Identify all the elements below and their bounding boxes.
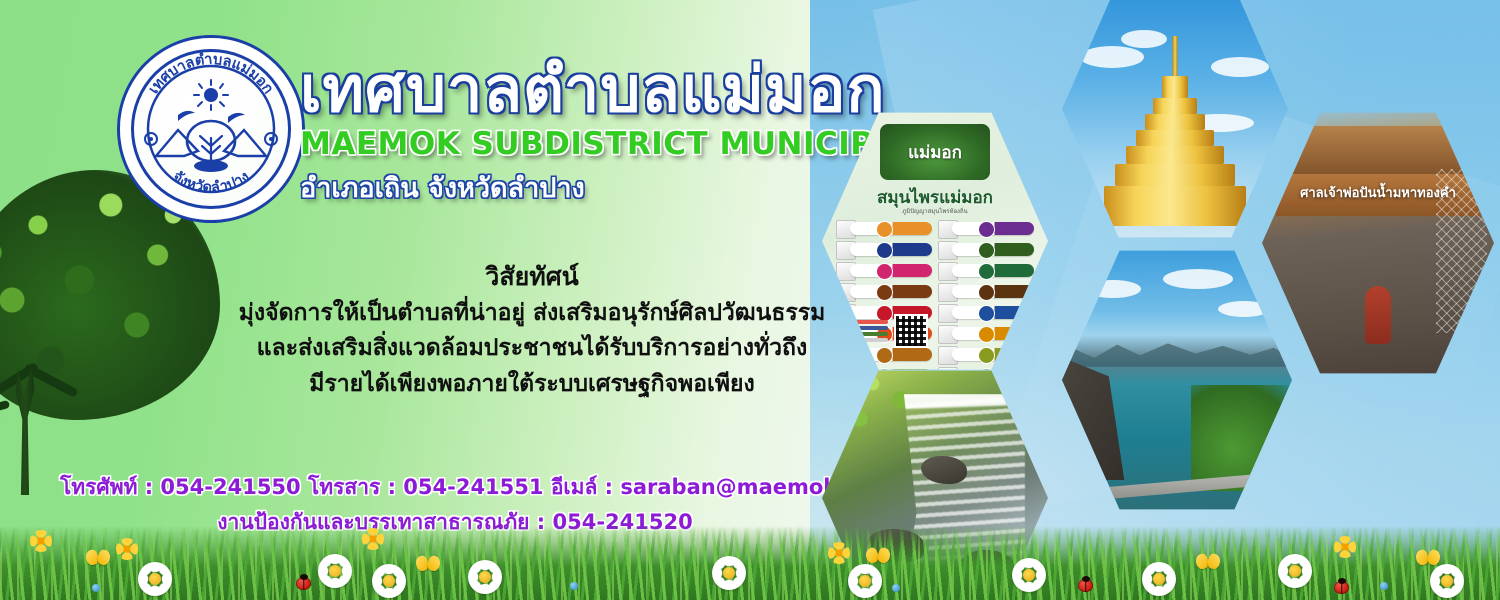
tree-branch bbox=[0, 400, 10, 420]
cloud bbox=[1163, 269, 1233, 289]
herbal-brand-logo: แม่มอก bbox=[880, 124, 990, 180]
white-daisy bbox=[318, 554, 352, 588]
page-title-thai: เทศบาลตำบลแม่มอก bbox=[300, 58, 1000, 121]
herbal-product-item bbox=[836, 262, 932, 279]
product-dot-icon bbox=[978, 326, 995, 343]
mountain-range bbox=[1062, 335, 1292, 367]
white-daisy bbox=[138, 562, 172, 596]
herbal-poster-subtitle: ภูมิปัญญาสมุนไพรท้องถิ่น bbox=[822, 206, 1048, 216]
pagoda-tier bbox=[1126, 146, 1224, 164]
shrine-guardian-statue bbox=[1365, 286, 1391, 344]
ladybug bbox=[296, 577, 311, 590]
blue-bud bbox=[892, 584, 900, 592]
herbal-product-item bbox=[938, 262, 1034, 279]
herbal-product-item bbox=[836, 220, 932, 237]
municipality-banner: เทศบาลตำบลแม่มอก จังหวัดลำปาง เทศบาลตำบล… bbox=[0, 0, 1500, 600]
pagoda-structure bbox=[1100, 41, 1250, 226]
yellow-flower bbox=[116, 538, 138, 560]
contact-line-phone-fax-email: โทรศัพท์ : 054-241550 โทรสาร : 054-24155… bbox=[60, 470, 850, 505]
white-daisy bbox=[848, 564, 882, 598]
blue-bud bbox=[1380, 582, 1388, 590]
municipality-emblem: เทศบาลตำบลแม่มอก จังหวัดลำปาง bbox=[120, 38, 302, 220]
vision-block: วิสัยทัศน์ มุ่งจัดการให้เป็นตำบลที่น่าอย… bbox=[232, 258, 832, 402]
pagoda-spire bbox=[1173, 36, 1178, 76]
ladybug bbox=[1078, 579, 1093, 592]
pagoda-tier bbox=[1153, 98, 1197, 114]
herbal-product-item bbox=[938, 283, 1034, 300]
product-dot-icon bbox=[978, 263, 995, 280]
herbal-product-item bbox=[938, 241, 1034, 258]
emblem-bottom-text: จังหวัดลำปาง bbox=[170, 169, 253, 197]
white-daisy bbox=[712, 556, 746, 590]
herbal-product-item bbox=[836, 241, 932, 258]
herbal-product-item bbox=[836, 283, 932, 300]
product-dot-icon bbox=[876, 263, 893, 280]
yellow-butterfly bbox=[866, 548, 890, 564]
white-daisy bbox=[1142, 562, 1176, 596]
product-dot-icon bbox=[978, 242, 995, 259]
white-daisy bbox=[468, 560, 502, 594]
yellow-flower bbox=[30, 530, 52, 552]
product-dot-icon bbox=[876, 221, 893, 238]
vision-line-1: มุ่งจัดการให้เป็นตำบลที่น่าอยู่ ส่งเสริม… bbox=[232, 296, 832, 332]
qr-code-icon bbox=[894, 314, 928, 348]
yellow-butterfly bbox=[1416, 550, 1440, 566]
product-dot-icon bbox=[876, 284, 893, 301]
white-daisy bbox=[1278, 554, 1312, 588]
grass-blades bbox=[0, 526, 1500, 600]
yellow-butterfly bbox=[1196, 554, 1220, 570]
yellow-flower bbox=[362, 528, 384, 550]
yellow-butterfly bbox=[86, 550, 110, 566]
grass-flower-border bbox=[0, 526, 1500, 600]
product-dot-icon bbox=[978, 347, 995, 364]
white-daisy bbox=[1012, 558, 1046, 592]
product-dot-icon bbox=[876, 242, 893, 259]
pagoda-tier bbox=[1115, 164, 1235, 186]
vision-line-2: และส่งเสริมสิ่งแวดล้อมประชาชนได้รับบริกา… bbox=[232, 331, 832, 367]
blue-bud bbox=[92, 584, 100, 592]
product-dot-icon bbox=[978, 284, 995, 301]
ladybug bbox=[1334, 581, 1349, 594]
herbal-brand-logo-text: แม่มอก bbox=[880, 124, 990, 180]
product-dot-icon bbox=[978, 305, 995, 322]
yellow-flower bbox=[828, 542, 850, 564]
product-dot-icon bbox=[876, 347, 893, 364]
pagoda-tier bbox=[1145, 114, 1205, 130]
tree-decoration bbox=[0, 170, 260, 510]
blue-bud bbox=[570, 582, 578, 590]
yellow-flower bbox=[1334, 536, 1356, 558]
white-daisy bbox=[1430, 564, 1464, 598]
herbal-product-item bbox=[938, 220, 1034, 237]
product-dot-icon bbox=[978, 221, 995, 238]
vision-line-3: มีรายได้เพียงพอภายใต้ระบบเศรษฐกิจพอเพียง bbox=[232, 367, 832, 403]
white-daisy bbox=[372, 564, 406, 598]
vision-heading: วิสัยทัศน์ bbox=[232, 258, 832, 296]
svg-text:จังหวัดลำปาง: จังหวัดลำปาง bbox=[170, 169, 253, 197]
pagoda-tier bbox=[1136, 130, 1214, 146]
pagoda-base bbox=[1104, 186, 1246, 226]
pagoda-tier bbox=[1162, 76, 1188, 98]
yellow-butterfly bbox=[416, 556, 440, 572]
